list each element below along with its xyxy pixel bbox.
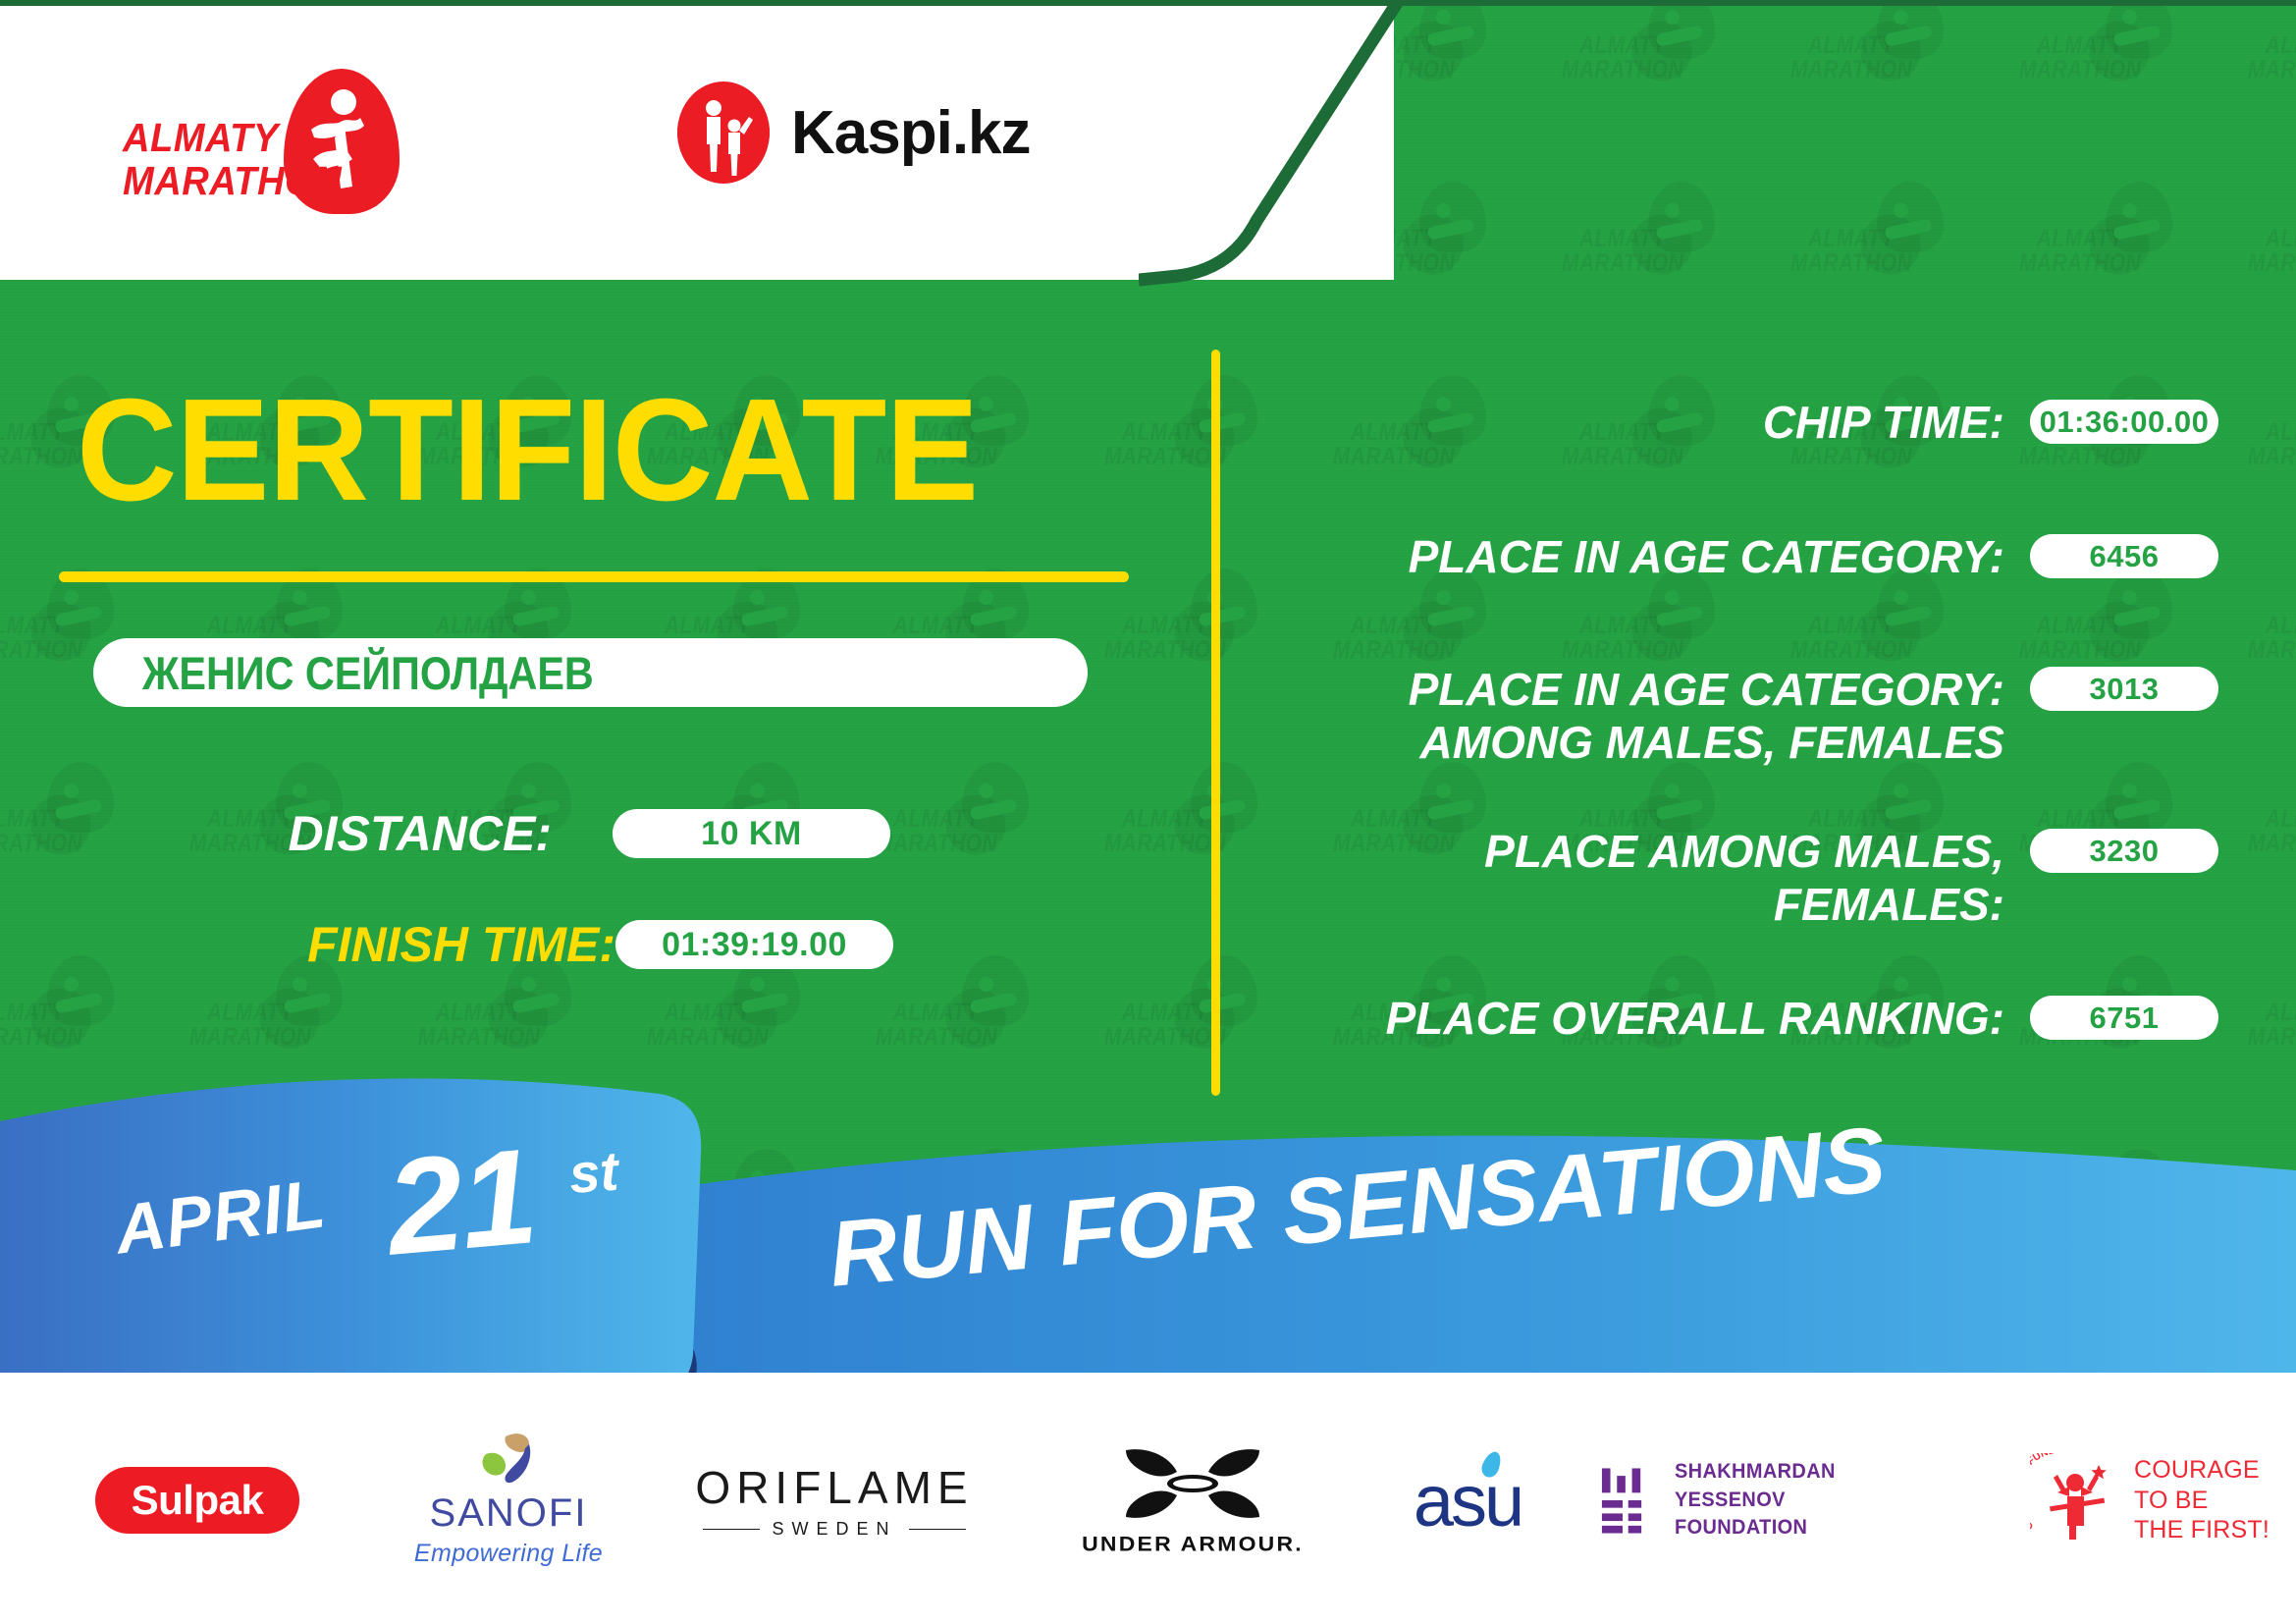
distance-value: 10 KM <box>613 809 890 858</box>
kaspi-wordmark: Kaspi.kz <box>791 98 1031 168</box>
sponsor-logo-yessenov: SHAKHMARDAN YESSENOV FOUNDATION <box>1600 1422 1953 1579</box>
oriflame-sub: SWEDEN <box>703 1519 965 1540</box>
stat-row: CHIP TIME: 01:36:00.00 <box>1266 396 2218 449</box>
under-armour-wordmark: UNDER ARMOUR. <box>1082 1532 1304 1556</box>
participant-name-field: ЖЕНИС СЕЙПОЛДАЕВ <box>93 638 1088 707</box>
distance-label: DISTANCE: <box>267 805 552 862</box>
kaspi-mark-icon <box>677 81 770 184</box>
stat-row: PLACE IN AGE CATEGORY: 6456 <box>1266 530 2218 583</box>
sponsor-logo-sulpak: Sulpak <box>84 1422 310 1579</box>
sanofi-tagline: Empowering Life <box>414 1540 603 1568</box>
sponsor-logo-courage: CORPORATE FUND COURAGE TO BE THE FIRST! <box>2017 1422 2282 1579</box>
stat-label: PLACE IN AGE CATEGORY: AMONG MALES, FEMA… <box>1266 663 2030 770</box>
title-underline <box>59 571 1129 582</box>
almaty-line1: ALMATY <box>123 115 279 160</box>
stat-row: PLACE IN AGE CATEGORY: AMONG MALES, FEMA… <box>1266 663 2218 770</box>
page-title: CERTIFICATE <box>77 378 978 523</box>
oriflame-wordmark: ORIFLAME <box>695 1461 973 1514</box>
finish-time-value: 01:39:19.00 <box>615 920 893 969</box>
stat-value: 3013 <box>2030 667 2218 711</box>
sanofi-mark-icon <box>472 1433 545 1488</box>
yessenov-wordmark: SHAKHMARDAN YESSENOV FOUNDATION <box>1675 1458 1940 1542</box>
certificate-card: ALMATY MARATHONALMATY MARATHONALMATY MAR… <box>0 0 2296 1624</box>
stat-label: PLACE OVERALL RANKING: <box>1266 992 2030 1045</box>
column-divider <box>1211 350 1220 1096</box>
participant-name-value: ЖЕНИС СЕЙПОЛДАЕВ <box>142 646 594 700</box>
sponsor-logo-oriflame: ORIFLAME SWEDEN <box>687 1422 982 1579</box>
almaty-line2: MARATHON <box>123 158 342 203</box>
stat-label: CHIP TIME: <box>1266 396 2030 449</box>
distance-row: DISTANCE: 10 KM <box>267 805 890 862</box>
asu-wordmark: asu <box>1414 1459 1522 1543</box>
stat-value: 01:36:00.00 <box>2030 400 2218 444</box>
courage-runner-icon: CORPORATE FUND <box>2030 1453 2120 1547</box>
stat-row: PLACE AMONG MALES, FEMALES: 3230 <box>1266 825 2218 932</box>
finish-time-label: FINISH TIME: <box>267 916 615 973</box>
stat-value: 3230 <box>2030 829 2218 873</box>
ribbon-ordinal: st <box>567 1139 620 1206</box>
finish-time-row: FINISH TIME: 01:39:19.00 <box>267 916 893 973</box>
yessenov-mark-icon <box>1600 1465 1653 1536</box>
sponsor-strip: Sulpak SANOFI Empowering Life ORIFLAME S… <box>0 1373 2296 1624</box>
stat-label: PLACE IN AGE CATEGORY: <box>1266 530 2030 583</box>
stat-row: PLACE OVERALL RANKING: 6751 <box>1266 992 2218 1045</box>
almaty-marathon-logo: ALMATYMARATHON <box>123 79 447 206</box>
stat-value: 6456 <box>2030 534 2218 578</box>
kaspi-logo: Kaspi.kz <box>677 79 1031 187</box>
stat-value: 6751 <box>2030 996 2218 1040</box>
sanofi-wordmark: SANOFI <box>430 1491 588 1536</box>
top-edge-line <box>0 0 2296 6</box>
sponsor-logo-sanofi: SANOFI Empowering Life <box>391 1422 626 1579</box>
sulpak-wordmark: Sulpak <box>95 1467 299 1534</box>
sponsor-logo-asu: asu <box>1355 1422 1580 1579</box>
stat-label: PLACE AMONG MALES, FEMALES: <box>1266 825 2030 932</box>
header-diagonal-edge <box>1139 0 1551 287</box>
svg-text:CORPORATE FUND: CORPORATE FUND <box>2030 1453 2056 1533</box>
under-armour-icon <box>1118 1444 1267 1523</box>
almaty-marathon-wordmark: ALMATYMARATHON <box>123 116 342 203</box>
oriflame-sub-text: SWEDEN <box>772 1519 896 1540</box>
sponsor-logo-under-armour: UNDER ARMOUR. <box>1070 1422 1315 1579</box>
courage-wordmark: COURAGE TO BE THE FIRST! <box>2134 1455 2269 1545</box>
asu-wrap: asu <box>1414 1459 1522 1543</box>
ribbon-day: 21 <box>381 1118 541 1286</box>
oriflame-rule-right <box>909 1529 966 1531</box>
oriflame-rule-left <box>703 1529 760 1531</box>
